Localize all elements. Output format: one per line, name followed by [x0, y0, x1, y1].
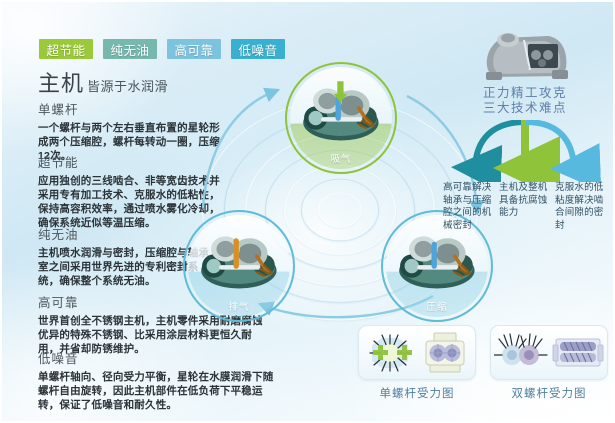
single-screw-force-diagram-icon — [364, 331, 416, 375]
technical-panel-columns: 高可靠解决轴承与压缩腔之间的机械密封 主机及整机具备抗腐蚀能力 克服水的低粘度解… — [443, 182, 611, 232]
section-body: 单螺杆轴向、径向受力平衡，星轮在水膜润滑下随螺杆自由旋转，因此主机部件在低负荷下… — [38, 370, 283, 412]
badge-low-noise[interactable]: 低噪音 — [231, 39, 285, 59]
technical-column-mechanical-seal: 高可靠解决轴承与压缩腔之间的机械密封 — [443, 182, 495, 232]
cycle-node-label: 吸气 — [285, 151, 397, 165]
twin-screw-force-diagram-icon — [494, 331, 548, 375]
page-title-main: 主机 — [38, 66, 84, 98]
card-single-screw[interactable]: 单螺杆受力图 — [358, 325, 476, 401]
card-caption: 单螺杆受力图 — [358, 385, 476, 401]
badge-label: 高可靠 — [174, 40, 213, 59]
badge-label: 低噪音 — [238, 40, 277, 59]
twin-screw-rotor-icon — [552, 331, 604, 375]
technical-panel-title-line2: 三大技术难点 — [440, 101, 610, 116]
card-twin-screw-body[interactable] — [490, 325, 608, 380]
technical-column-mesh-gap-seal: 克服水的低粘度解决啮合间隙的密封 — [555, 182, 607, 232]
force-diagram-cards: 单螺杆受力图 — [358, 325, 608, 401]
card-single-screw-body[interactable] — [358, 325, 476, 380]
badge-high-reliability[interactable]: 高可靠 — [167, 39, 221, 59]
feature-badge-row: 超节能 纯无油 高可靠 低噪音 — [39, 39, 285, 59]
badge-super-energy-saving[interactable]: 超节能 — [39, 39, 93, 59]
badge-oil-free[interactable]: 纯无油 — [103, 39, 157, 59]
technical-challenges-panel: 正力精工攻克 三大技术难点 高可靠解决轴承与压 — [440, 22, 610, 252]
poster-page: 超节能 纯无油 高可靠 低噪音 主机 皆源于水润滑 单螺杆 一个螺杆与两个左右垂… — [0, 0, 615, 423]
cycle-node-intake[interactable]: 吸气 — [285, 62, 397, 174]
cycle-node-label: 压缩 — [381, 299, 493, 313]
card-twin-screw[interactable]: 双螺杆受力图 — [490, 325, 608, 401]
compressor-cutaway-photo — [478, 24, 574, 86]
compressor-airend-icon — [194, 227, 284, 294]
technical-panel-arrows — [440, 120, 610, 182]
compressor-airend-icon — [296, 79, 386, 146]
page-title: 主机 皆源于水润滑 — [38, 66, 168, 98]
card-caption: 双螺杆受力图 — [490, 385, 608, 401]
single-screw-rotor-icon — [420, 331, 470, 375]
technical-panel-title-line1: 正力精工攻克 — [440, 86, 610, 101]
section-heading: 低噪音 — [38, 348, 283, 367]
technical-column-corrosion-resistance: 主机及整机具备抗腐蚀能力 — [499, 182, 551, 232]
cycle-node-exhaust[interactable]: 排气 — [183, 210, 295, 322]
section-low-noise: 低噪音 单螺杆轴向、径向受力平衡，星轮在水膜润滑下随螺杆自由旋转，因此主机部件在… — [38, 348, 283, 412]
page-title-sub: 皆源于水润滑 — [87, 76, 168, 95]
badge-label: 超节能 — [46, 40, 85, 59]
cycle-node-label: 排气 — [183, 299, 295, 313]
technical-panel-title: 正力精工攻克 三大技术难点 — [440, 86, 610, 116]
badge-label: 纯无油 — [110, 40, 149, 59]
